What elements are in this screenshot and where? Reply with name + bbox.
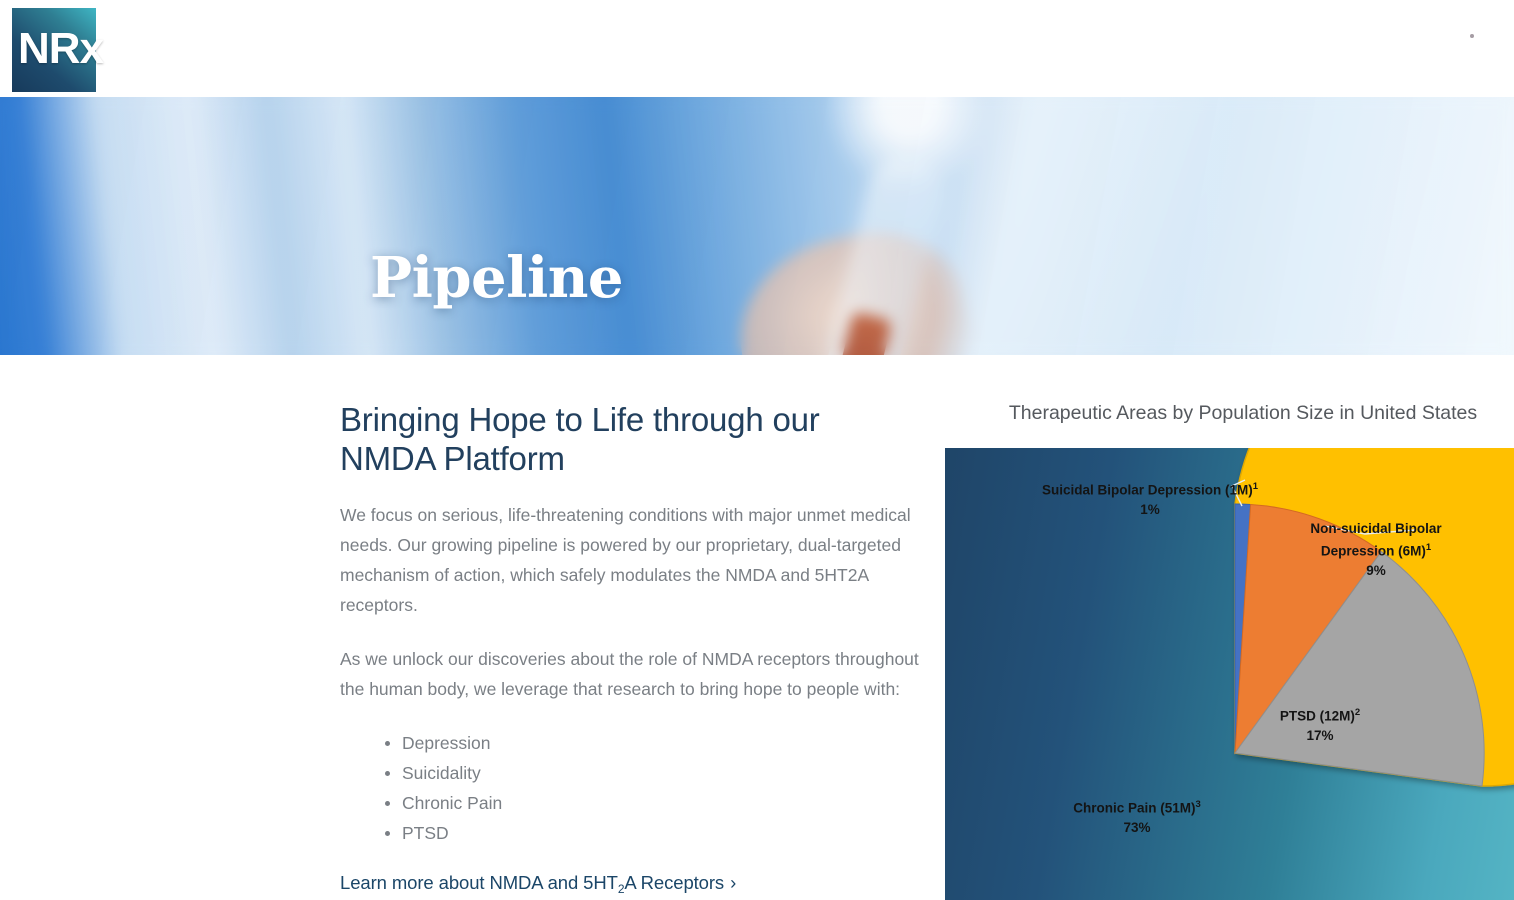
page-title: Pipeline — [370, 245, 623, 311]
nav-menu-dot-icon[interactable] — [1470, 34, 1474, 38]
section-heading: Bringing Hope to Life through our NMDA P… — [340, 400, 920, 478]
pie-label-chronic-name: Chronic Pain (51M) — [1073, 801, 1195, 816]
main-content: Bringing Hope to Life through our NMDA P… — [0, 355, 1514, 900]
pie-label-ptsd-pct: 17% — [1306, 728, 1333, 743]
learn-more-text-before: Learn more about NMDA and 5HT — [340, 872, 618, 893]
pie-label-nonsuicidal-name: Non-suicidal Bipolar — [1310, 521, 1441, 536]
pie-label-nonsuicidal-sup: 1 — [1426, 542, 1431, 553]
intro-paragraph-2: As we unlock our discoveries about the r… — [340, 644, 920, 704]
pie-label-ptsd-sup: 2 — [1355, 707, 1360, 718]
intro-paragraph-1: We focus on serious, life-threatening co… — [340, 500, 920, 620]
pie-label-suicidal-sup: 1 — [1253, 481, 1258, 492]
learn-more-subscript: 2 — [618, 882, 625, 896]
learn-more-link[interactable]: Learn more about NMDA and 5HT2A Receptor… — [340, 870, 736, 898]
hero-blur-overlay — [0, 97, 1514, 355]
logo-text-x: x — [80, 24, 103, 73]
top-navigation-bar: NRx — [0, 0, 1514, 97]
pie-label-ptsd: PTSD (12M)2 17% — [1280, 703, 1360, 745]
pie-label-chronic-sup: 3 — [1195, 799, 1200, 810]
site-logo[interactable]: NRx — [12, 8, 132, 92]
pie-label-suicidal-pct: 1% — [1140, 502, 1160, 517]
pie-label-chronic-pain: Chronic Pain (51M)3 73% — [1073, 795, 1201, 837]
pie-label-suicidal-bipolar: Suicidal Bipolar Depression (1M)1 1% — [1042, 477, 1258, 519]
intro-column: Bringing Hope to Life through our NMDA P… — [340, 400, 920, 898]
pie-label-ptsd-name: PTSD (12M) — [1280, 709, 1355, 724]
list-item: PTSD — [402, 818, 920, 848]
pie-label-chronic-pct: 73% — [1123, 820, 1150, 835]
list-item: Suicidality — [402, 758, 920, 788]
chart-column: Therapeutic Areas by Population Size in … — [945, 355, 1514, 900]
indication-list: Depression Suicidality Chronic Pain PTSD — [340, 728, 920, 848]
chart-title: Therapeutic Areas by Population Size in … — [993, 400, 1493, 426]
logo-text-nr: NR — [18, 24, 80, 73]
learn-more-text-after: A Receptors — [624, 872, 724, 893]
pie-label-nonsuicidal-name2: Depression (6M) — [1321, 544, 1426, 559]
logo-wordmark: NRx — [18, 22, 138, 76]
list-item: Chronic Pain — [402, 788, 920, 818]
list-item: Depression — [402, 728, 920, 758]
chevron-right-icon: › — [730, 872, 736, 893]
nav-right-controls — [1470, 34, 1474, 38]
hero-banner: Pipeline — [0, 97, 1514, 355]
pie-label-suicidal-name: Suicidal Bipolar Depression (1M) — [1042, 483, 1253, 498]
pie-label-nonsuicidal-bipolar: Non-suicidal Bipolar Depression (6M)1 9% — [1310, 519, 1441, 580]
pie-label-nonsuicidal-pct: 9% — [1366, 563, 1386, 578]
